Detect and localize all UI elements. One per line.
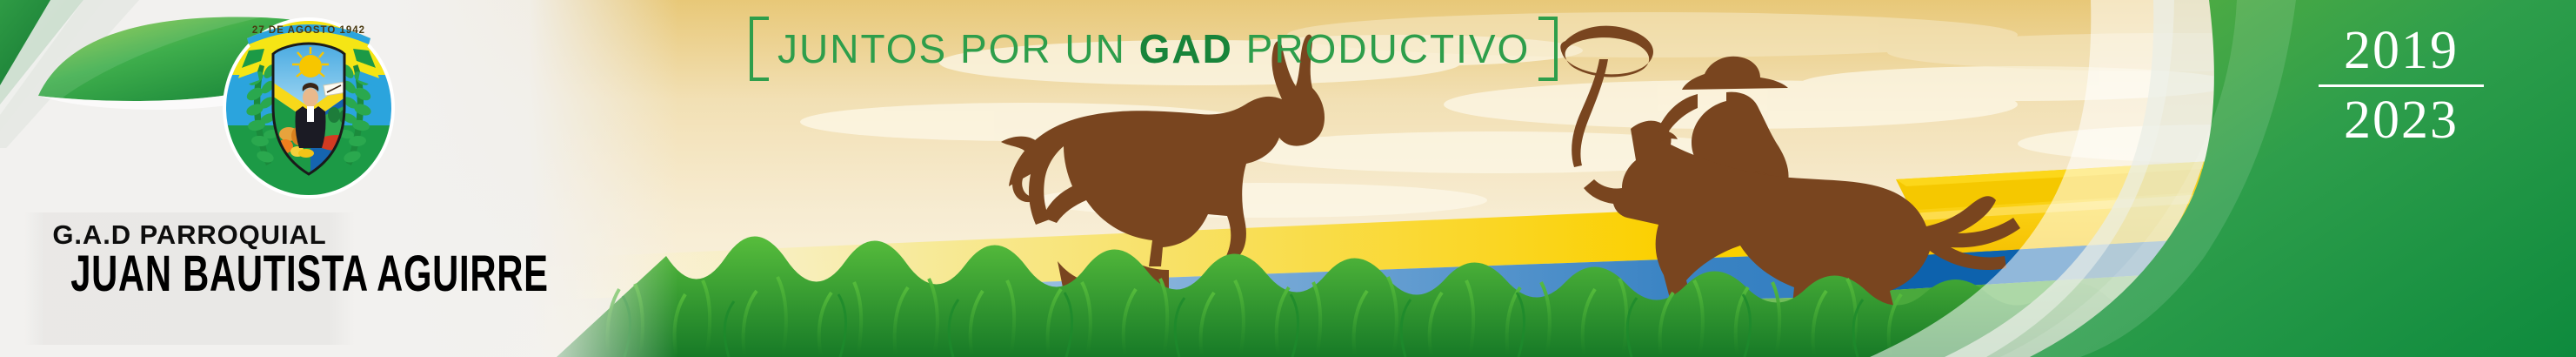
bracket-left-icon — [750, 17, 769, 81]
slogan-text: JUNTOS POR UN GAD PRODUCTIVO — [769, 25, 1538, 72]
institutional-banner: 27 DE AGOSTO 1942 G.A.D PARROQUIAL JUAN … — [0, 0, 2576, 357]
term-end-year: 2023 — [2310, 92, 2493, 149]
parish-name-label: JUAN BAUTISTA AGUIRRE — [70, 249, 309, 300]
slogan-part2: PRODUCTIVO — [1233, 26, 1530, 71]
slogan-part1: JUNTOS POR UN — [777, 26, 1139, 71]
slogan-block: JUNTOS POR UN GAD PRODUCTIVO — [750, 17, 1558, 80]
slogan-emphasis: GAD — [1139, 26, 1233, 71]
coat-of-arms: 27 DE AGOSTO 1942 — [212, 3, 405, 200]
term-start-year: 2019 — [2310, 23, 2493, 79]
term-years-block: 2019 2023 — [2310, 23, 2493, 149]
organization-nameplate: G.A.D PARROQUIAL JUAN BAUTISTA AGUIRRE — [24, 212, 355, 345]
bracket-right-icon — [1538, 17, 1558, 81]
term-divider — [2319, 84, 2484, 87]
crest-ribbon-text: 27 DE AGOSTO 1942 — [252, 25, 365, 36]
